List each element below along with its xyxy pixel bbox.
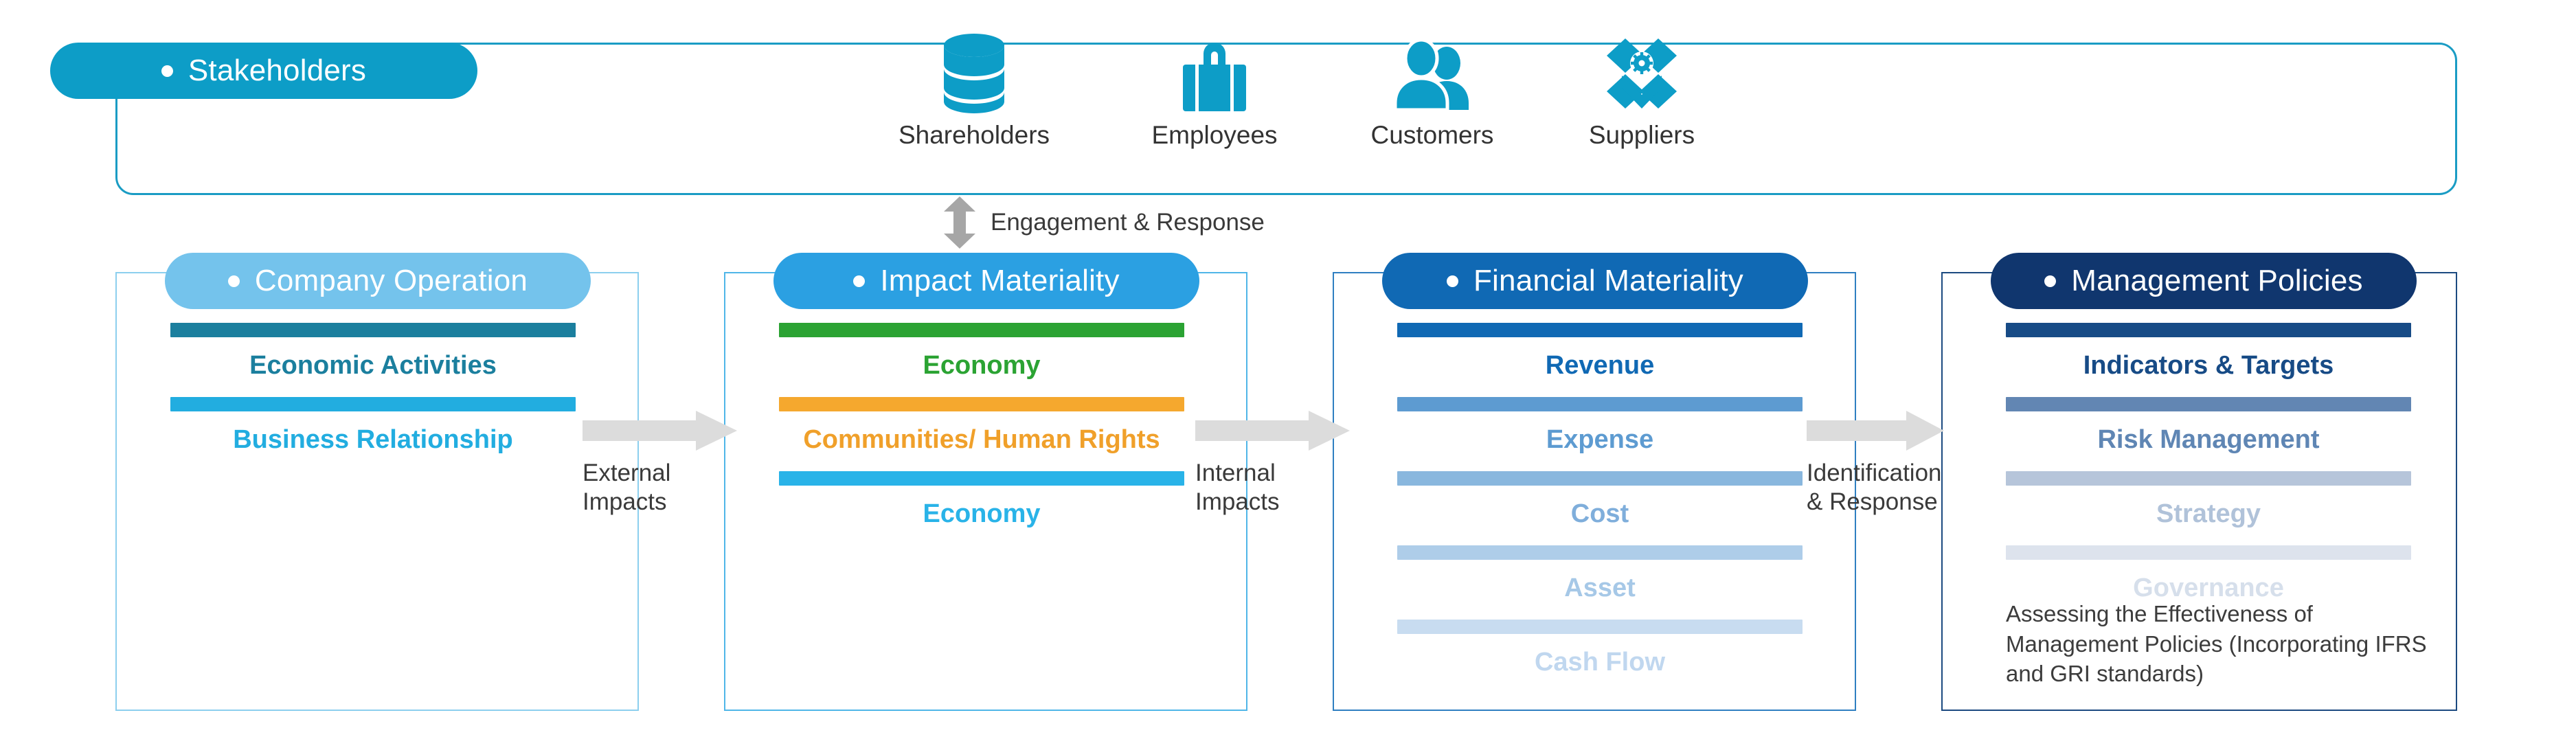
management-policies-caption: Assessing the Effectiveness of Managemen… [2006, 599, 2432, 689]
connector-label-line1: Internal [1195, 459, 1374, 488]
item-bar [170, 323, 576, 337]
connector-label-line1: External [583, 459, 761, 488]
two-people-icon [1390, 32, 1474, 115]
item-label: Economic Activities [170, 351, 576, 381]
list-item[interactable]: Risk Management [2006, 397, 2411, 455]
item-label: Revenue [1397, 351, 1803, 381]
column-pill-management-policies[interactable]: Management Policies [1991, 253, 2417, 309]
item-bar [2006, 471, 2411, 486]
column-pill-impact-materiality[interactable]: Impact Materiality [773, 253, 1199, 309]
diagram-canvas: Stakeholders Shareholders Employees [0, 0, 2576, 737]
item-bar [2006, 323, 2411, 337]
list-item[interactable]: Economic Activities [170, 323, 576, 381]
item-label: Risk Management [2006, 425, 2411, 455]
item-label: Communities/ Human Rights [779, 425, 1184, 455]
list-item[interactable]: Strategy [2006, 471, 2411, 529]
right-arrow-icon [1195, 411, 1374, 451]
stakeholder-item-customers[interactable]: Customers [1329, 32, 1535, 150]
item-bar [779, 323, 1184, 337]
list-item[interactable]: Revenue [1397, 323, 1803, 381]
stakeholders-pill-label: Stakeholders [188, 54, 366, 88]
item-bar [779, 471, 1184, 486]
item-bar [2006, 545, 2411, 560]
column-items-company-operation: Economic Activities Business Relationshi… [170, 323, 576, 471]
list-item[interactable]: Economy [779, 471, 1184, 529]
item-label: Cash Flow [1397, 648, 1803, 677]
engagement-label: Engagement & Response [991, 209, 1265, 236]
bullet-dot-icon [2044, 275, 2056, 287]
connector-label: External Impacts [583, 459, 761, 517]
column-items-management-policies: Indicators & Targets Risk Management Str… [2006, 323, 2411, 620]
list-item[interactable]: Cash Flow [1397, 620, 1803, 677]
item-label: Expense [1397, 425, 1803, 455]
list-item[interactable]: Governance [2006, 545, 2411, 603]
item-bar [779, 397, 1184, 411]
item-label: Economy [779, 499, 1184, 529]
item-bar [2006, 397, 2411, 411]
item-label: Cost [1397, 499, 1803, 529]
item-label: Indicators & Targets [2006, 351, 2411, 381]
column-pill-label: Management Policies [2071, 264, 2362, 298]
double-headed-vertical-arrow-icon [941, 196, 978, 249]
list-item[interactable]: Expense [1397, 397, 1803, 455]
right-arrow-icon [1807, 411, 1985, 451]
list-item[interactable]: Economy [779, 323, 1184, 381]
connector-internal-impacts: Internal Impacts [1195, 411, 1374, 517]
item-bar [1397, 397, 1803, 411]
bullet-dot-icon [228, 275, 240, 287]
bullet-dot-icon [853, 275, 865, 287]
item-label: Asset [1397, 574, 1803, 603]
list-item[interactable]: Cost [1397, 471, 1803, 529]
bullet-dot-icon [1447, 275, 1458, 287]
connector-label-line2: & Response [1807, 488, 1985, 517]
list-item[interactable]: Communities/ Human Rights [779, 397, 1184, 455]
item-bar [1397, 545, 1803, 560]
column-pill-company-operation[interactable]: Company Operation [165, 253, 591, 309]
item-bar [1397, 323, 1803, 337]
connector-identification-response: Identification & Response [1807, 411, 1985, 517]
connector-label: Internal Impacts [1195, 459, 1374, 517]
column-items-financial-materiality: Revenue Expense Cost Asset Cash Flow [1397, 323, 1803, 694]
open-box-gear-icon [1601, 32, 1682, 115]
connector-label-line1: Identification [1807, 459, 1985, 488]
item-bar [1397, 471, 1803, 486]
item-bar [1397, 620, 1803, 634]
briefcase-icon [1176, 32, 1253, 115]
engagement-connector: Engagement & Response [941, 196, 1265, 249]
connector-label: Identification & Response [1807, 459, 1985, 517]
connector-external-impacts: External Impacts [583, 411, 761, 517]
stakeholder-label: Suppliers [1589, 121, 1695, 150]
column-pill-label: Financial Materiality [1473, 264, 1743, 298]
bullet-dot-icon [161, 65, 173, 77]
column-pill-financial-materiality[interactable]: Financial Materiality [1382, 253, 1808, 309]
connector-label-line2: Impacts [583, 488, 761, 517]
stakeholders-pill[interactable]: Stakeholders [50, 43, 477, 99]
item-label: Strategy [2006, 499, 2411, 529]
list-item[interactable]: Asset [1397, 545, 1803, 603]
stakeholder-label: Shareholders [899, 121, 1050, 150]
column-items-impact-materiality: Economy Communities/ Human Rights Econom… [779, 323, 1184, 545]
connector-label-line2: Impacts [1195, 488, 1374, 517]
stakeholder-item-shareholders[interactable]: Shareholders [871, 32, 1077, 150]
column-pill-label: Company Operation [255, 264, 528, 298]
stakeholder-label: Employees [1151, 121, 1277, 150]
list-item[interactable]: Business Relationship [170, 397, 576, 455]
item-label: Business Relationship [170, 425, 576, 455]
item-label: Economy [779, 351, 1184, 381]
list-item[interactable]: Indicators & Targets [2006, 323, 2411, 381]
database-cylinder-icon [938, 32, 1010, 115]
column-pill-label: Impact Materiality [880, 264, 1119, 298]
right-arrow-icon [583, 411, 761, 451]
stakeholder-label: Customers [1371, 121, 1494, 150]
item-bar [170, 397, 576, 411]
stakeholder-item-suppliers[interactable]: Suppliers [1539, 32, 1745, 150]
stakeholder-item-employees[interactable]: Employees [1111, 32, 1318, 150]
